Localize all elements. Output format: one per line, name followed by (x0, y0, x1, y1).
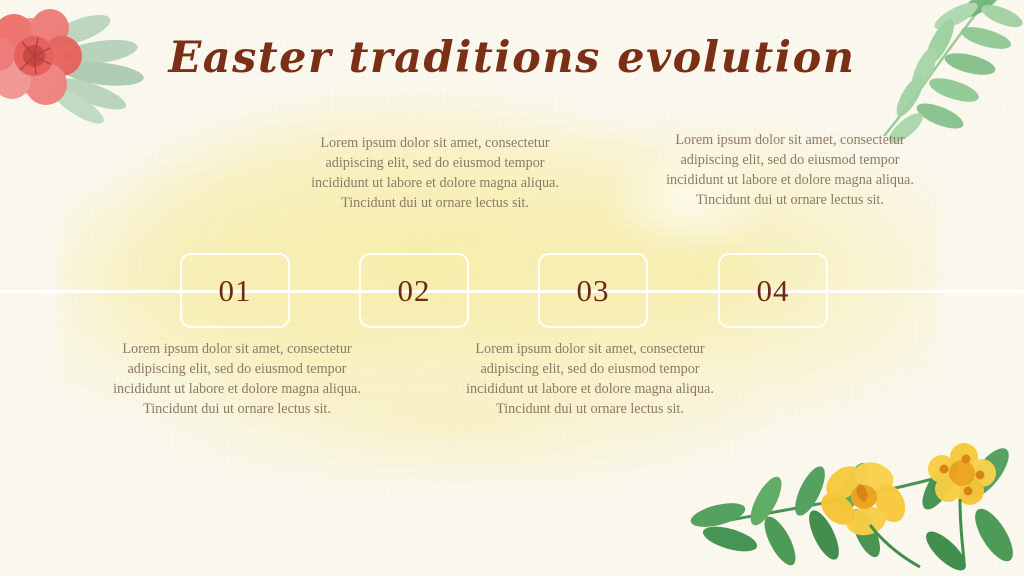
timeline-step-box-02[interactable]: 02 (359, 253, 469, 328)
timeline-step-box-04[interactable]: 04 (718, 253, 828, 328)
timeline-step-description-03: Lorem ipsum dolor sit amet, consectetur … (465, 339, 715, 420)
timeline-step-box-03[interactable]: 03 (538, 253, 648, 328)
timeline-step-description-01: Lorem ipsum dolor sit amet, consectetur … (112, 339, 362, 420)
yellow-flowers-leaves-bottom-right-decoration (688, 429, 1024, 576)
step-number-01: 01 (219, 273, 252, 309)
timeline-step-description-02: Lorem ipsum dolor sit amet, consectetur … (310, 133, 560, 214)
paper-texture-overlay (0, 0, 1024, 576)
step-number-03: 03 (577, 273, 610, 309)
page-title: Easter traditions evolution (0, 33, 1024, 83)
timeline-step-box-01[interactable]: 01 (180, 253, 290, 328)
step-number-04: 04 (757, 273, 790, 309)
timeline-connector-line (0, 290, 1024, 293)
slide-canvas: Easter traditions evolution 01 02 03 04 … (0, 0, 1024, 576)
timeline-step-description-04: Lorem ipsum dolor sit amet, consectetur … (665, 130, 915, 211)
step-number-02: 02 (398, 273, 431, 309)
